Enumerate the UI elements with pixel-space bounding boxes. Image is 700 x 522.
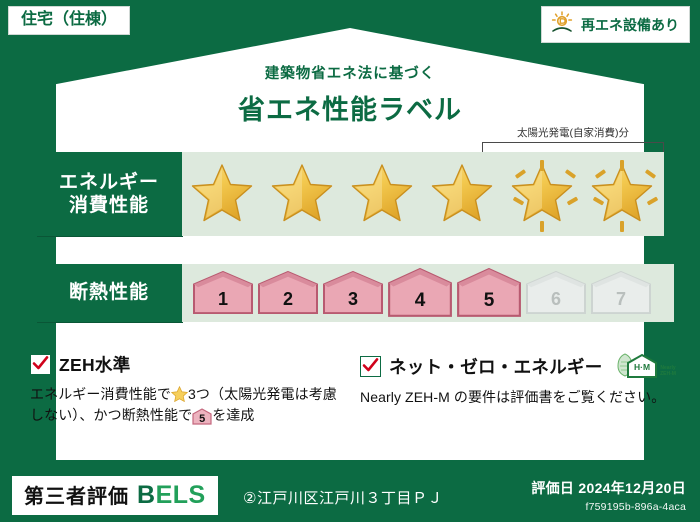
star-2 bbox=[262, 152, 342, 236]
solar-bracket-label: 太陽光発電(自家消費)分 bbox=[482, 128, 664, 139]
property-address: ②江戸川区江戸川３丁目ＰＪ bbox=[243, 487, 443, 508]
inline-house-level-icon: 5 bbox=[192, 408, 212, 425]
checkbox-checked-icon bbox=[30, 354, 51, 375]
insulation-level-number: 1 bbox=[218, 289, 228, 315]
label-subtitle: 建築物省エネ法に基づく bbox=[0, 62, 700, 83]
bels-letter-b: B bbox=[137, 481, 156, 509]
bels-jp-label: 第三者評価 bbox=[24, 480, 129, 509]
insulation-performance-row: 断熱性能 1234567 bbox=[36, 264, 674, 322]
insulation-level-6: 6 bbox=[525, 271, 587, 315]
zeh-standard-claim: ZEH水準 エネルギー消費性能で3つ（太陽光発電は考慮しない）、かつ断熱性能で5… bbox=[30, 352, 350, 427]
zeh-claim-body: エネルギー消費性能で3つ（太陽光発電は考慮しない）、かつ断熱性能で5を達成 bbox=[30, 384, 350, 427]
star-icon bbox=[509, 163, 575, 226]
solar-sun-icon bbox=[550, 11, 574, 38]
insulation-row-header: 断熱性能 bbox=[36, 264, 182, 322]
label-main-title: 省エネ性能ラベル bbox=[0, 88, 700, 127]
checkbox-checked-icon bbox=[360, 356, 381, 377]
insulation-level-number: 6 bbox=[551, 289, 561, 315]
insulation-level-3: 3 bbox=[322, 271, 384, 315]
evaluation-date: 評価日 2024年12月20日 bbox=[531, 478, 686, 498]
insulation-level-1: 1 bbox=[192, 271, 254, 315]
star-icon bbox=[269, 163, 335, 226]
insulation-header-label: 断熱性能 bbox=[69, 281, 149, 304]
renewable-equipment-badge: 再エネ設備あり bbox=[541, 6, 690, 43]
insulation-level-4: 4 bbox=[387, 268, 453, 318]
net-zero-energy-claim: ネット・ゼロ・エネルギー H·M Nearly ZEH-M Nearly ZEH… bbox=[360, 352, 680, 408]
inline-house-number: 5 bbox=[192, 411, 212, 428]
inline-star-icon bbox=[171, 386, 188, 402]
category-tag: 住宅（住棟） bbox=[8, 6, 130, 35]
bels-third-party-mark: 第三者評価 BELS bbox=[12, 476, 218, 515]
solar-bracket-annotation: 太陽光発電(自家消費)分 bbox=[482, 128, 664, 152]
star-rating bbox=[182, 152, 664, 236]
energy-performance-label: 住宅（住棟） 再エネ設備あり 建築物省エネ法に基づく 省エネ性能ラベル bbox=[0, 0, 700, 522]
star-3 bbox=[342, 152, 422, 236]
star-1 bbox=[182, 152, 262, 236]
star-icon bbox=[429, 163, 495, 226]
zeh-claim-header: ZEH水準 bbox=[30, 352, 350, 377]
solar-bracket-line bbox=[482, 142, 664, 152]
energy-row-body: 太陽光発電(自家消費)分 bbox=[182, 152, 664, 236]
energy-header-line1: エネルギー bbox=[59, 171, 159, 194]
zeh-claim-title: ZEH水準 bbox=[59, 352, 131, 377]
star-icon bbox=[589, 163, 655, 226]
star-icon bbox=[349, 163, 415, 226]
net-zero-claim-body: Nearly ZEH-M の要件は評価書をご覧ください。 bbox=[360, 387, 680, 408]
insulation-level-5: 5 bbox=[456, 268, 522, 318]
zeh-body-part1: エネルギー消費性能で bbox=[30, 386, 171, 402]
insulation-level-number: 5 bbox=[484, 290, 495, 318]
star-5 bbox=[502, 152, 582, 236]
renewable-badge-label: 再エネ設備あり bbox=[581, 18, 679, 32]
star-icon bbox=[189, 163, 255, 226]
nearly-zeh-m-logo: H·M Nearly ZEH-M bbox=[615, 352, 677, 380]
insulation-level-7: 7 bbox=[590, 271, 652, 315]
zeh-body-star-count: 3つ bbox=[188, 386, 210, 402]
zeh-body-part3: を達成 bbox=[212, 407, 254, 423]
energy-row-header: エネルギー 消費性能 bbox=[36, 152, 182, 236]
svg-text:H·M: H·M bbox=[634, 362, 650, 372]
net-zero-claim-header: ネット・ゼロ・エネルギー H·M Nearly ZEH-M bbox=[360, 352, 680, 380]
energy-performance-row: エネルギー 消費性能 太陽光発電(自家消費)分 bbox=[36, 152, 664, 236]
insulation-level-number: 4 bbox=[415, 290, 426, 318]
label-footer: 第三者評価 BELS ②江戸川区江戸川３丁目ＰＪ 評価日 2024年12月20日… bbox=[0, 470, 700, 522]
star-6 bbox=[582, 152, 662, 236]
logo-caption-line2: ZEH-M bbox=[660, 371, 676, 377]
insulation-level-number: 7 bbox=[616, 289, 626, 315]
evaluation-info: 評価日 2024年12月20日 f759195b-896a-4aca bbox=[531, 478, 686, 513]
energy-header-line2: 消費性能 bbox=[69, 194, 149, 217]
bels-letters-els: ELS bbox=[156, 481, 206, 509]
insulation-level-number: 3 bbox=[348, 289, 358, 315]
insulation-level-2: 2 bbox=[257, 271, 319, 315]
insulation-level-number: 2 bbox=[283, 289, 293, 315]
label-title-block: 建築物省エネ法に基づく 省エネ性能ラベル bbox=[0, 62, 700, 127]
star-4 bbox=[422, 152, 502, 236]
net-zero-claim-title: ネット・ゼロ・エネルギー bbox=[389, 354, 603, 379]
insulation-scale: 1234567 bbox=[182, 264, 674, 322]
evaluation-id: f759195b-896a-4aca bbox=[531, 501, 686, 513]
